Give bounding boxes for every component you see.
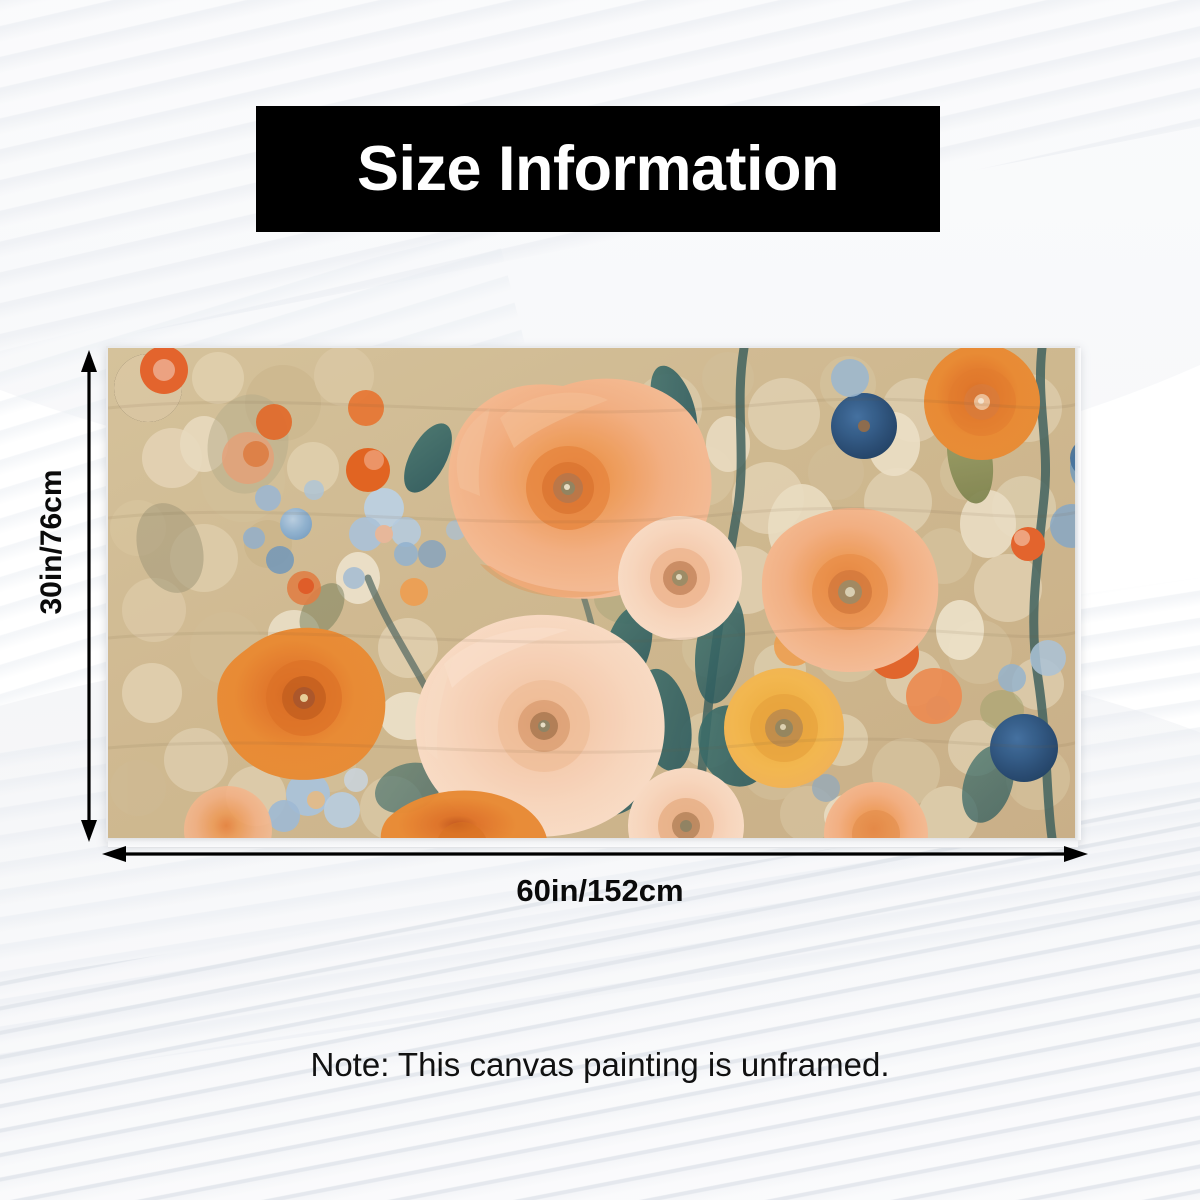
artwork-image — [108, 348, 1078, 838]
size-information-page: Size Information — [0, 0, 1200, 1200]
width-dimension-arrow — [100, 840, 1090, 868]
canvas-artwork — [108, 348, 1078, 838]
horizontal-arrow-icon — [100, 840, 1090, 868]
height-dimension-label: 30in/76cm — [35, 432, 69, 652]
artwork-svg — [108, 348, 1078, 838]
title-banner: Size Information — [256, 106, 940, 232]
unframed-note: Note: This canvas painting is unframed. — [0, 1046, 1200, 1084]
height-dimension-arrow — [72, 348, 106, 844]
vertical-arrow-icon — [72, 348, 106, 844]
width-dimension-label: 60in/152cm — [0, 873, 1200, 909]
page-title: Size Information — [357, 138, 839, 201]
canvas-right-edge — [1075, 348, 1081, 840]
